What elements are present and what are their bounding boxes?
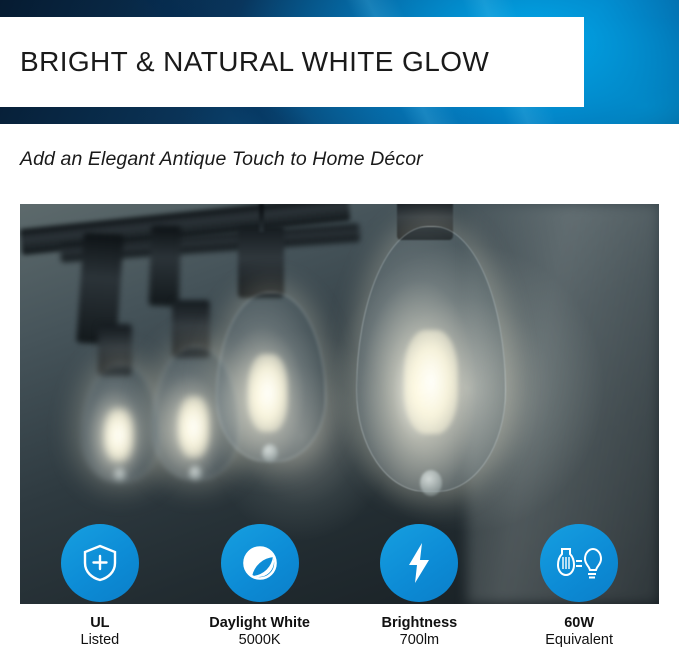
header-banner: BRIGHT & NATURAL WHITE GLOW [0, 0, 679, 124]
bulb-filament [104, 408, 134, 462]
bulb-tip [420, 470, 442, 496]
feature-subtitle: 5000K [185, 632, 335, 649]
bulb-socket [238, 226, 284, 298]
bulb-filament [404, 330, 458, 434]
banner-title-box: BRIGHT & NATURAL WHITE GLOW [0, 17, 584, 107]
feature-icon-circle [221, 524, 299, 602]
bulb-foreground [356, 226, 504, 490]
feature-title: Daylight White [185, 615, 335, 632]
feature-subtitle: Equivalent [504, 632, 654, 649]
bulb-tip [189, 466, 202, 481]
bulb-cord [259, 204, 264, 232]
feature-brightness: Brightness 700lm [344, 524, 494, 649]
pipe-fitting [149, 226, 182, 307]
feature-icon-circle [380, 524, 458, 602]
feature-wattage-equivalent: 60W Equivalent [504, 524, 654, 649]
feature-title: UL [25, 615, 175, 632]
feature-row: UL Listed Daylight White 5000K Brightnes… [20, 524, 659, 662]
feature-title: Brightness [344, 615, 494, 632]
bulb-tip [262, 444, 278, 462]
bulb-filament [178, 396, 210, 458]
feature-icon-circle [540, 524, 618, 602]
lightning-bolt-icon [406, 542, 432, 584]
page-title: BRIGHT & NATURAL WHITE GLOW [0, 46, 489, 78]
feature-daylight-white: Daylight White 5000K [185, 524, 335, 649]
feature-ul-listed: UL Listed [25, 524, 175, 649]
bulb-filament [248, 354, 288, 432]
bulb-tip [114, 468, 126, 482]
page-subtitle: Add an Elegant Antique Touch to Home Déc… [20, 148, 423, 171]
bulb-far-left [82, 364, 158, 480]
moon-circle-icon [240, 543, 280, 583]
bulb-middle [216, 292, 324, 460]
feature-icon-circle [61, 524, 139, 602]
shield-plus-icon [81, 543, 119, 583]
feature-title: 60W [504, 615, 654, 632]
feature-subtitle: 700lm [344, 632, 494, 649]
two-bulbs-equals-icon [554, 545, 604, 581]
feature-subtitle: Listed [25, 632, 175, 649]
